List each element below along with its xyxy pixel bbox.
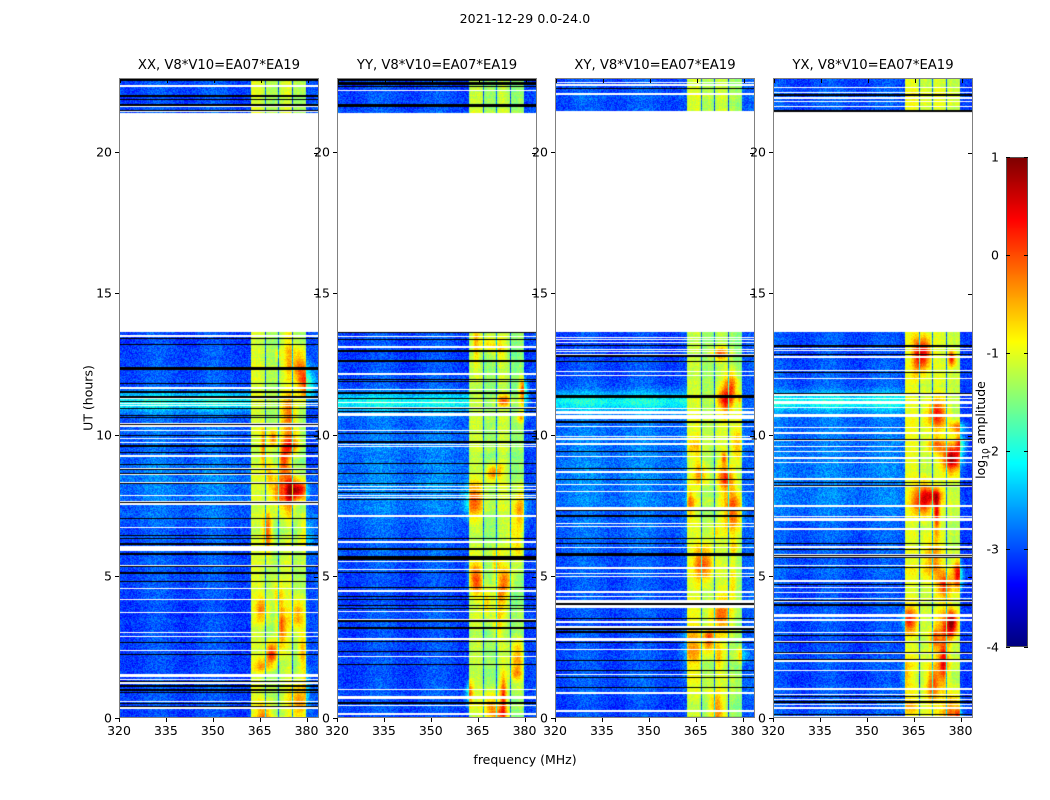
x-tick-mark [384, 718, 385, 722]
x-tick-label: 350 [637, 723, 661, 738]
x-tick-label: 350 [855, 723, 879, 738]
x-tick-group-xx: 320335350365380 [119, 718, 319, 744]
y-tick-mark-right [968, 577, 972, 578]
axes-frame-xy [555, 78, 755, 718]
x-tick-label: 320 [761, 723, 785, 738]
x-tick-mark [431, 718, 432, 722]
x-tick-mark [213, 718, 214, 722]
colorbar-title-base: log [973, 460, 988, 479]
x-tick-mark-inner-top [821, 79, 822, 83]
colorbar-tick-mark [1006, 647, 1010, 648]
subplot-title-yy: YY, V8*V10=EA07*EA19 [337, 58, 537, 78]
colorbar-tick-label: 0 [991, 248, 999, 263]
x-tick-label: 365 [248, 723, 272, 738]
x-tick-mark [696, 718, 697, 722]
colorbar-tick-mark [1006, 255, 1010, 256]
x-tick-mark [743, 718, 744, 722]
x-tick-mark-inner-top [385, 79, 386, 83]
waterfall-image-xx [120, 79, 319, 718]
x-tick-group-yx: 320335350365380 [773, 718, 973, 744]
y-tick-label: 5 [104, 569, 112, 584]
x-tick-mark-inner-top [868, 79, 869, 83]
y-tick-mark [333, 293, 337, 294]
y-tick-label: 20 [96, 144, 112, 159]
y-tick-label: 20 [750, 144, 766, 159]
colorbar-tick-mark-right [1024, 353, 1028, 354]
colorbar-title-sub: 10 [981, 448, 991, 459]
y-tick-label: 10 [96, 427, 112, 442]
colorbar-tick-mark-right [1024, 451, 1028, 452]
subplot-panel-xx[interactable]: XX, V8*V10=EA07*EA19 05101520 3203353503… [119, 78, 319, 718]
x-tick-label: 365 [902, 723, 926, 738]
y-tick-label: 15 [532, 286, 548, 301]
x-tick-mark [337, 718, 338, 722]
y-tick-mark [769, 576, 773, 577]
x-tick-mark [914, 718, 915, 722]
y-tick-group-xx: 05101520 [79, 78, 119, 718]
y-tick-mark [333, 435, 337, 436]
colorbar-tick-mark [1006, 451, 1010, 452]
y-tick-mark [551, 435, 555, 436]
waterfall-image-xy [556, 79, 755, 718]
y-tick-mark [551, 293, 555, 294]
x-tick-mark-inner-top [603, 79, 604, 83]
y-tick-mark [769, 293, 773, 294]
colorbar-tick-label: -1 [987, 346, 999, 361]
y-tick-mark [115, 435, 119, 436]
colorbar-tick-mark-right [1024, 549, 1028, 550]
x-tick-mark-inner-top [479, 79, 480, 83]
x-tick-label: 350 [201, 723, 225, 738]
y-tick-mark [115, 576, 119, 577]
x-tick-label: 335 [590, 723, 614, 738]
waterfall-image-yy [338, 79, 537, 718]
x-tick-mark [307, 718, 308, 722]
x-tick-mark-inner-top [214, 79, 215, 83]
x-tick-mark-inner-top [432, 79, 433, 83]
colorbar-tick-mark [1006, 353, 1010, 354]
y-tick-mark [551, 576, 555, 577]
x-tick-label: 335 [372, 723, 396, 738]
y-tick-mark-right [968, 153, 972, 154]
x-tick-mark-inner-top [650, 79, 651, 83]
y-tick-mark [551, 152, 555, 153]
y-tick-mark-right [968, 294, 972, 295]
x-tick-label: 380 [513, 723, 537, 738]
y-tick-label: 5 [758, 569, 766, 584]
y-tick-mark [115, 152, 119, 153]
x-tick-label: 365 [684, 723, 708, 738]
x-tick-group-xy: 320335350365380 [555, 718, 755, 744]
colorbar-tick-mark-right [1024, 157, 1028, 158]
y-tick-group-yx: 05101520 [733, 78, 773, 718]
x-tick-label: 335 [154, 723, 178, 738]
y-tick-label: 10 [532, 427, 548, 442]
y-tick-mark [333, 576, 337, 577]
axes-frame-xx [119, 78, 319, 718]
y-tick-label: 20 [532, 144, 548, 159]
y-tick-mark [115, 293, 119, 294]
y-tick-group-yy: 05101520 [297, 78, 337, 718]
x-tick-mark [260, 718, 261, 722]
y-tick-mark [333, 152, 337, 153]
axes-frame-yy [337, 78, 537, 718]
subplot-panel-yx[interactable]: YX, V8*V10=EA07*EA19 05101520 3203353503… [773, 78, 973, 718]
x-tick-mark-inner-top [556, 79, 557, 83]
x-tick-group-yy: 320335350365380 [337, 718, 537, 744]
x-tick-mark [525, 718, 526, 722]
x-tick-mark-inner-top [338, 79, 339, 83]
y-tick-label: 15 [314, 286, 330, 301]
x-tick-mark-inner-top [261, 79, 262, 83]
y-tick-label: 15 [96, 286, 112, 301]
y-tick-label: 10 [750, 427, 766, 442]
subplot-title-yx: YX, V8*V10=EA07*EA19 [773, 58, 973, 78]
x-tick-mark [555, 718, 556, 722]
colorbar-tick-mark-right [1024, 647, 1028, 648]
x-tick-mark-inner-top [774, 79, 775, 83]
figure-canvas: 2021-12-29 0.0-24.0 UT (hours) frequency… [0, 0, 1050, 800]
x-tick-mark [166, 718, 167, 722]
x-tick-mark [773, 718, 774, 722]
colorbar-title: log10 amplitude [973, 381, 992, 479]
y-tick-mark [769, 435, 773, 436]
x-tick-label: 350 [419, 723, 443, 738]
x-tick-label: 320 [325, 723, 349, 738]
colorbar-tick-mark-right [1024, 255, 1028, 256]
colorbar-tick-label: 1 [991, 150, 999, 165]
y-tick-mark-right [968, 436, 972, 437]
colorbar-gradient [1006, 157, 1028, 647]
x-tick-label: 380 [295, 723, 319, 738]
y-tick-label: 5 [540, 569, 548, 584]
x-tick-mark-inner-top [167, 79, 168, 83]
colorbar-tick-mark [1006, 549, 1010, 550]
colorbar-tick-mark [1006, 157, 1010, 158]
colorbar[interactable]: -4-3-2-101 [1006, 157, 1028, 647]
y-tick-label: 10 [314, 427, 330, 442]
x-tick-label: 320 [107, 723, 131, 738]
x-tick-label: 335 [808, 723, 832, 738]
waterfall-image-yx [774, 79, 973, 718]
subplot-panel-xy[interactable]: XY, V8*V10=EA07*EA19 05101520 3203353503… [555, 78, 755, 718]
subplot-panel-yy[interactable]: YY, V8*V10=EA07*EA19 05101520 3203353503… [337, 78, 537, 718]
x-axis-label: frequency (MHz) [473, 752, 576, 767]
subplot-title-xy: XY, V8*V10=EA07*EA19 [555, 58, 755, 78]
x-tick-mark-inner-top [915, 79, 916, 83]
x-tick-mark [649, 718, 650, 722]
y-tick-label: 20 [314, 144, 330, 159]
colorbar-title-rest: amplitude [973, 381, 988, 448]
x-tick-label: 365 [466, 723, 490, 738]
x-tick-label: 380 [949, 723, 973, 738]
x-tick-mark [478, 718, 479, 722]
figure-suptitle: 2021-12-29 0.0-24.0 [0, 11, 1050, 26]
x-tick-mark-inner-top [697, 79, 698, 83]
x-tick-label: 380 [731, 723, 755, 738]
y-tick-label: 5 [322, 569, 330, 584]
y-tick-label: 15 [750, 286, 766, 301]
colorbar-tick-label: -4 [987, 640, 999, 655]
y-tick-mark [769, 152, 773, 153]
y-tick-group-xy: 05101520 [515, 78, 555, 718]
axes-frame-yx [773, 78, 973, 718]
x-tick-label: 320 [543, 723, 567, 738]
subplot-title-xx: XX, V8*V10=EA07*EA19 [119, 58, 319, 78]
x-tick-mark [961, 718, 962, 722]
x-tick-mark-inner-top [120, 79, 121, 83]
x-tick-mark [820, 718, 821, 722]
colorbar-tick-label: -3 [987, 542, 999, 557]
x-tick-mark-inner-top [962, 79, 963, 83]
x-tick-mark [602, 718, 603, 722]
x-tick-mark [119, 718, 120, 722]
x-tick-mark [867, 718, 868, 722]
